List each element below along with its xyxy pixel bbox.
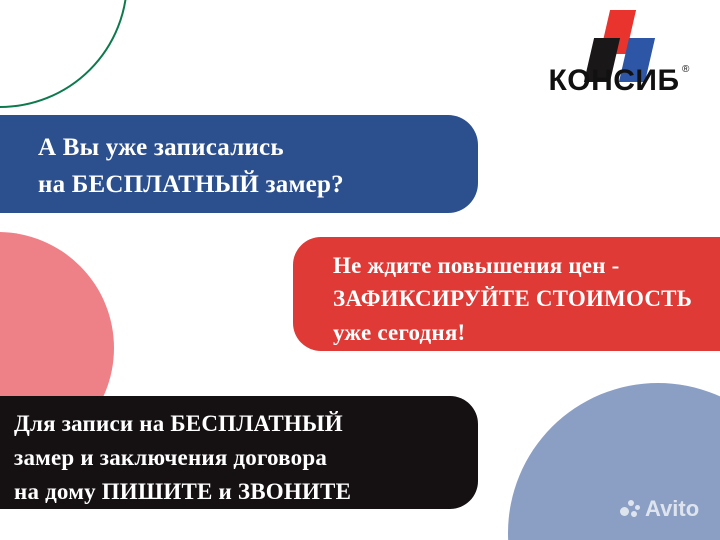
cta-black-line-2: замер и заключения договора	[14, 441, 478, 475]
advertisement-banner: КОНСИБ ® А Вы уже записались на БЕСПЛАТН…	[0, 0, 720, 540]
logo-mark	[532, 8, 696, 68]
headline-blue-line-1: А Вы уже записались	[38, 129, 478, 166]
cta-black-block: Для записи на БЕСПЛАТНЫЙ замер и заключе…	[0, 396, 478, 509]
offer-red-line-3: уже сегодня!	[333, 316, 720, 349]
avito-dots-icon	[620, 499, 642, 519]
konsib-logo: КОНСИБ ®	[532, 8, 696, 104]
green-ring-decoration	[0, 0, 128, 108]
offer-red-block: Не ждите повышения цен - ЗАФИКСИРУЙТЕ СТ…	[293, 237, 720, 351]
cta-black-line-3: на дому ПИШИТЕ и ЗВОНИТЕ	[14, 475, 478, 509]
offer-red-line-2: ЗАФИКСИРУЙТЕ СТОИМОСТЬ	[333, 282, 720, 315]
registered-trademark-icon: ®	[682, 64, 689, 75]
logo-wordmark: КОНСИБ	[532, 66, 696, 96]
cta-black-line-1: Для записи на БЕСПЛАТНЫЙ	[14, 407, 478, 441]
headline-blue-block: А Вы уже записались на БЕСПЛАТНЫЙ замер?	[0, 115, 478, 213]
avito-watermark: Avito	[620, 498, 699, 520]
headline-blue-line-2: на БЕСПЛАТНЫЙ замер?	[38, 166, 478, 203]
offer-red-line-1: Не ждите повышения цен -	[333, 249, 720, 282]
avito-watermark-label: Avito	[645, 498, 699, 520]
